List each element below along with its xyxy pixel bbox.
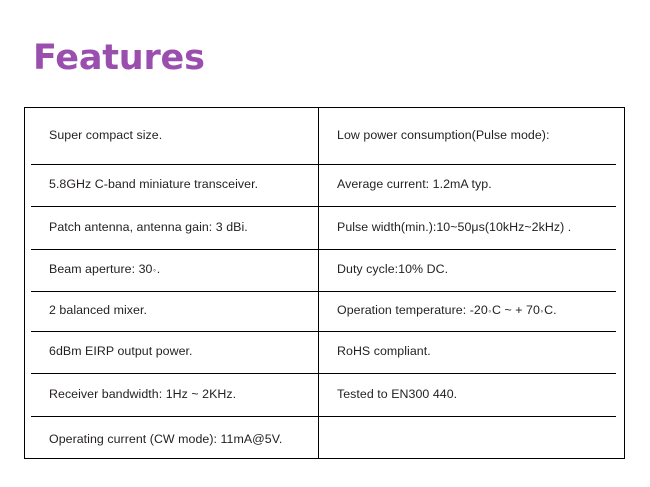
features-table-right-column: Low power consumption(Pulse mode): Avera… bbox=[319, 108, 624, 458]
features-table: Super compact size. 5.8GHz C-band miniat… bbox=[24, 107, 625, 459]
cell-text: Patch antenna, antenna gain: 3 dBi. bbox=[49, 220, 248, 236]
slide-canvas: Features Super compact size. 5.8GHz C-ba… bbox=[0, 0, 650, 487]
cell-text-tail: C. bbox=[544, 303, 557, 319]
table-row: Receiver bandwidth: 1Hz ~ 2KHz. bbox=[25, 373, 318, 416]
cell-text: Operation temperature: -20 bbox=[337, 303, 488, 319]
table-row: RoHS compliant. bbox=[319, 331, 624, 373]
table-row: Super compact size. bbox=[25, 108, 318, 164]
table-row: 2 balanced mixer. bbox=[25, 291, 318, 331]
table-row-empty bbox=[319, 416, 624, 458]
table-row: 5.8GHz C-band miniature transceiver. bbox=[25, 164, 318, 206]
cell-text: Super compact size. bbox=[49, 128, 162, 144]
table-row: 6dBm EIRP output power. bbox=[25, 331, 318, 373]
cell-text: RoHS compliant. bbox=[337, 344, 431, 360]
cell-text: Tested to EN300 440. bbox=[337, 387, 457, 403]
page-title: Features bbox=[33, 41, 205, 76]
table-row: Average current: 1.2mA typ. bbox=[319, 164, 624, 206]
table-row: Pulse width(min.):10~50μs(10kHz~2kHz) . bbox=[319, 206, 624, 249]
cell-text: Beam aperture: 30 bbox=[49, 262, 152, 278]
table-row: Operation temperature: -20◦C ~ + 70◦C. bbox=[319, 291, 624, 331]
table-row: Patch antenna, antenna gain: 3 dBi. bbox=[25, 206, 318, 249]
table-row: Tested to EN300 440. bbox=[319, 373, 624, 416]
cell-text: Pulse width(min.):10~50μs(10kHz~2kHz) . bbox=[337, 220, 571, 236]
table-row: Low power consumption(Pulse mode): bbox=[319, 108, 624, 164]
cell-text: 6dBm EIRP output power. bbox=[49, 344, 193, 360]
features-table-left-column: Super compact size. 5.8GHz C-band miniat… bbox=[25, 108, 319, 458]
cell-text-tail: . bbox=[157, 262, 161, 278]
table-row: Duty cycle:10% DC. bbox=[319, 249, 624, 291]
table-row: Operating current (CW mode): 11mA@5V. bbox=[25, 416, 318, 458]
table-row: Beam aperture: 30◦. bbox=[25, 249, 318, 291]
cell-text: Average current: 1.2mA typ. bbox=[337, 177, 492, 193]
cell-text: 2 balanced mixer. bbox=[49, 303, 147, 319]
cell-text: Receiver bandwidth: 1Hz ~ 2KHz. bbox=[49, 387, 236, 403]
cell-text-mid: C ~ + 70 bbox=[492, 303, 540, 319]
cell-text: 5.8GHz C-band miniature transceiver. bbox=[49, 177, 258, 193]
cell-text: Duty cycle:10% DC. bbox=[337, 262, 448, 278]
cell-text: Low power consumption(Pulse mode): bbox=[337, 128, 549, 144]
cell-text: Operating current (CW mode): 11mA@5V. bbox=[49, 432, 282, 448]
